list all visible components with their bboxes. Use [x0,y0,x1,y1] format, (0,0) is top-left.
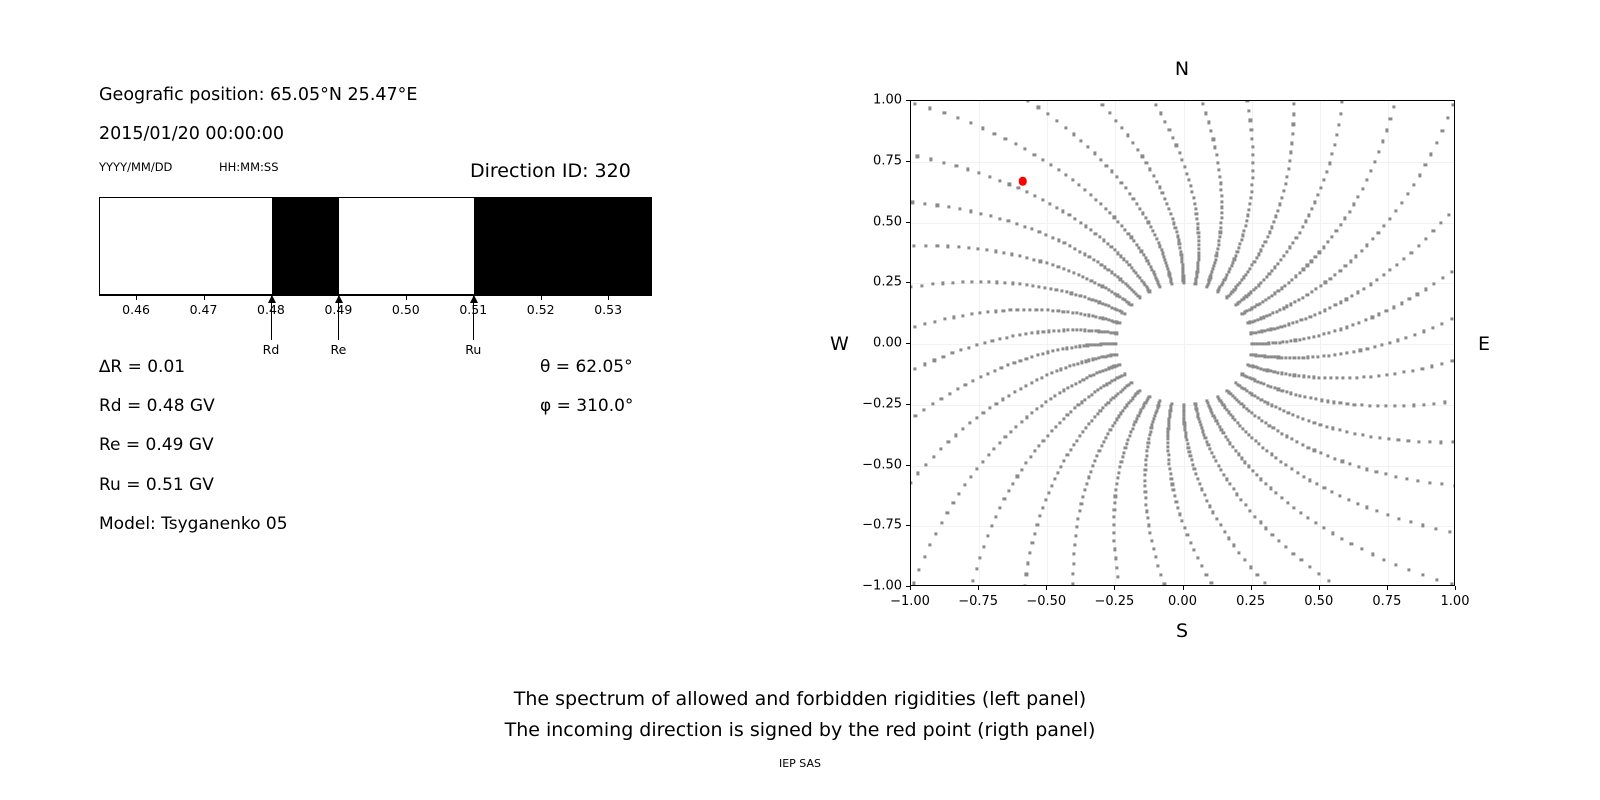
scatter-point [1210,451,1213,454]
scatter-point [993,447,996,450]
scatter-point [1303,337,1306,340]
scatter-point [1084,225,1087,228]
scatter-point [1160,248,1163,251]
scatter-point [1149,225,1152,228]
scatter-point [1038,230,1041,233]
scatter-point [1241,234,1244,237]
scatter-point [1382,140,1385,143]
plot-y-tick-label: −0.75 [852,518,902,533]
scatter-point [1181,269,1184,272]
scatter-point [1113,292,1116,295]
scatter-point [1406,193,1409,196]
scatter-point [1280,325,1283,328]
scatter-point [1150,539,1153,542]
spectrum-x-tick-label: 0.52 [527,302,555,317]
scatter-point [1080,502,1083,505]
scatter-point [1251,162,1254,165]
scatter-point [1371,553,1374,556]
scatter-point [1044,286,1047,289]
scatter-point [1011,282,1014,285]
scatter-point [1349,463,1352,466]
scatter-point [998,441,1001,444]
scatter-point [1031,284,1034,287]
scatter-point [1284,546,1287,549]
scatter-point [1080,361,1083,364]
scatter-point [1451,441,1454,444]
plot-x-tick-label: 0.75 [1372,594,1401,609]
spectrum-marker-re [338,296,339,340]
scatter-point [1318,311,1321,314]
scatter-point [1416,479,1419,482]
scatter-point [1106,242,1109,245]
scatter-point [1355,376,1358,379]
plot-y-tick [906,404,910,405]
scatter-point [1197,254,1200,257]
scatter-point [1105,368,1108,371]
scatter-point [1187,446,1190,449]
scatter-point [1416,293,1419,296]
scatter-point [1149,531,1152,534]
scatter-point [1251,264,1254,267]
scatter-point [1209,448,1212,451]
scatter-point [1077,273,1080,276]
scatter-point [1328,306,1331,309]
scatter-point [1171,483,1174,486]
scatter-point [1026,100,1029,102]
scatter-point [1104,303,1107,306]
scatter-point [1056,119,1059,122]
scatter-point [1281,356,1284,359]
param-theta: θ = 62.05° [540,357,633,377]
scatter-point [1341,377,1344,380]
scatter-point [1290,339,1293,342]
scatter-point [1319,284,1322,287]
scatter-point [1334,273,1337,276]
scatter-point [1006,364,1009,367]
scatter-point [1145,161,1148,164]
scatter-point [917,472,920,475]
scatter-point [1287,323,1290,326]
scatter-point [1135,202,1138,205]
scatter-point [1244,273,1247,276]
scatter-point [1276,262,1279,265]
scatter-point [1090,393,1093,396]
scatter-point [1056,471,1059,474]
scatter-point [978,312,981,315]
scatter-point [1121,126,1124,129]
scatter-point [982,545,985,548]
scatter-point [1344,217,1347,220]
scatter-point [1295,440,1298,443]
scatter-point [1181,158,1184,161]
scatter-point [1158,245,1161,248]
scatter-point [1360,404,1363,407]
scatter-point [1100,263,1103,266]
scatter-point [1078,345,1081,348]
scatter-point [1057,239,1060,242]
scatter-point [1108,381,1111,384]
scatter-point [969,122,972,125]
scatter-point [1385,129,1388,132]
scatter-point [1225,478,1228,481]
scatter-point [1181,263,1184,266]
scatter-point [1166,267,1169,270]
scatter-point [1292,123,1295,126]
datetime-label: 2015/01/20 00:00:00 [99,124,284,144]
scatter-point [1189,454,1192,457]
footer-credit: IEP SAS [0,757,1600,770]
scatter-point [1412,184,1415,187]
scatter-point [1046,434,1049,437]
scatter-point [1300,559,1303,562]
scatter-point [1314,521,1317,524]
scatter-point [1287,412,1290,415]
scatter-point [1116,482,1119,485]
scatter-point [1117,252,1120,255]
scatter-point [1084,360,1087,363]
scatter-point [1049,397,1052,400]
scatter-point [1112,516,1115,519]
scatter-point [1126,134,1129,137]
scatter-point [1012,335,1015,338]
scatter-point [1223,530,1226,533]
scatter-point [1418,174,1421,177]
scatter-point [1057,349,1060,352]
scatter-point [1175,231,1178,234]
scatter-point [1089,375,1092,378]
scatter-point [1196,222,1199,225]
scatter-point [979,375,982,378]
scatter-point [1441,276,1444,279]
scatter-point [1024,332,1027,335]
scatter-point [940,521,943,524]
scatter-point [1334,304,1337,307]
scatter-point [1062,310,1065,313]
scatter-point [1152,547,1155,550]
scatter-point [1292,113,1295,116]
scatter-point [1029,455,1032,458]
scatter-point [1301,226,1304,229]
scatter-point [1251,183,1254,186]
scatter-point [1110,170,1113,173]
scatter-point [1110,306,1113,309]
param-phi: φ = 310.0° [540,396,633,416]
scatter-point [1262,278,1265,281]
scatter-point [1091,298,1094,301]
scatter-point [1440,362,1443,365]
scatter-point [1144,474,1147,477]
scatter-point [1052,329,1055,332]
scatter-point [1197,261,1200,264]
scatter-point [1217,244,1220,247]
scatter-point [1072,583,1075,586]
scatter-point [1210,582,1213,585]
scatter-point [1168,467,1171,470]
scatter-point [1167,270,1170,273]
scatter-point [1268,272,1271,275]
scatter-point [1088,255,1091,258]
scatter-point [956,387,959,390]
scatter-point [1109,211,1112,214]
scatter-point [1424,288,1427,291]
scatter-point [1084,426,1087,429]
scatter-point [1058,421,1061,424]
scatter-point [1065,291,1068,294]
scatter-point [1284,183,1287,186]
scatter-point [1279,203,1282,206]
scatter-point [1273,387,1276,390]
scatter-point [913,325,916,328]
scatter-point [993,369,996,372]
scatter-point [1310,260,1313,263]
scatter-point [1042,439,1045,442]
scatter-point [1075,329,1078,332]
scatter-point [1352,203,1355,206]
scatter-point [1400,302,1403,305]
scatter-point [1085,376,1088,379]
scatter-point [1113,548,1116,551]
scatter-point [1020,468,1023,471]
scatter-point [979,556,982,559]
scatter-point [1083,488,1086,491]
direction-id-label: Direction ID: 320 [470,160,631,182]
scatter-point [1268,424,1271,427]
scatter-point [947,440,950,443]
scatter-point [1101,356,1104,359]
scatter-point [1377,374,1380,377]
scatter-point [932,455,935,458]
scatter-point [1097,330,1100,333]
scatter-point [1101,330,1104,333]
scatter-point [1242,276,1245,279]
scatter-point [1113,502,1116,505]
scatter-point [1213,261,1216,264]
scatter-point [1093,152,1096,155]
scatter-point [1314,201,1317,204]
scatter-point [1099,370,1102,373]
scatter-point [1187,178,1190,181]
scatter-point [1120,255,1123,258]
scatter-point [931,283,934,286]
scatter-point [1291,133,1294,136]
scatter-point [1201,103,1204,106]
scatter-point [1066,386,1069,389]
scatter-point [1292,413,1295,416]
scatter-point [1181,266,1184,269]
scatter-point [959,349,962,352]
scatter-point [969,475,972,478]
scatter-point [1322,333,1325,336]
scatter-point [1207,444,1210,447]
scatter-point [1326,454,1329,457]
scatter-point [1060,368,1063,371]
scatter-point [1431,326,1434,329]
scatter-point [1166,438,1169,441]
scatter-point [1003,281,1006,284]
scatter-point [1394,372,1397,375]
scatter-point [1411,369,1414,372]
scatter-point [1029,551,1032,554]
spectrum-x-tick-label: 0.50 [392,302,420,317]
scatter-point [1244,461,1247,464]
scatter-point [951,352,954,355]
scatter-point [1196,477,1199,480]
scatter-point [1157,564,1160,567]
scatter-point [1450,318,1453,321]
scatter-point [1085,482,1088,485]
scatter-point [1082,495,1085,498]
scatter-point [1196,264,1199,267]
compass-south-label: S [1176,620,1188,642]
scatter-point [1275,215,1278,218]
scatter-point [987,454,990,457]
scatter-point [1254,515,1257,518]
scatter-point [1039,260,1042,263]
scatter-point [1322,527,1325,530]
scatter-point [1138,247,1141,250]
scatter-point [1078,184,1081,187]
scatter-point [1443,401,1446,404]
scatter-point [1344,265,1347,268]
scatter-point [1293,506,1296,509]
scatter-point [1313,313,1316,316]
scatter-point [1052,309,1055,312]
scatter-point [1120,461,1123,464]
scatter-point [1236,493,1239,496]
scatter-point [1307,446,1310,449]
scatter-point [1141,155,1144,158]
scatter-point [1385,309,1388,312]
scatter-point [1055,370,1058,373]
scatter-point [1299,511,1302,514]
scatter-point [1070,384,1073,387]
scatter-point [1025,384,1028,387]
scatter-point [942,282,945,285]
plot-y-tick-label: 1.00 [852,93,902,108]
scatter-point [1318,376,1321,379]
scatter-point [1428,440,1431,443]
scatter-point [1389,117,1392,120]
scatter-point [1130,236,1133,239]
scatter-point [1327,579,1330,582]
plot-x-tick-label: −0.75 [958,594,998,609]
scatter-point [929,107,932,110]
scatter-point [1057,169,1060,172]
scatter-point [1410,251,1413,254]
scatter-point [1108,111,1111,114]
scatter-point [1152,174,1155,177]
plot-y-tick-label: 0.50 [852,214,902,229]
scatter-point [1189,185,1192,188]
scatter-point [1071,329,1074,332]
scatter-point [1102,406,1105,409]
scatter-point [1339,328,1342,331]
scatter-point [1033,450,1036,453]
scatter-point [1330,490,1333,493]
scatter-point [1127,438,1130,441]
scatter-point [1113,216,1116,219]
scatter-point [1057,309,1060,312]
scatter-point [1266,449,1269,452]
scatter-point [1095,198,1098,201]
scatter-point [1151,229,1154,232]
scatter-point [1094,357,1097,360]
scatter-point [1060,465,1063,468]
scatter-point [1243,229,1246,232]
scatter-point [1271,533,1274,536]
scatter-point [1333,353,1336,356]
scatter-point [967,246,970,249]
scatter-point [1162,255,1165,258]
geographic-position-label: Geografic position: 65.05°N 25.47°E [99,85,417,105]
scatter-point [1451,103,1454,106]
scatter-point [1291,278,1294,281]
scatter-point [1302,375,1305,378]
scatter-point [929,158,932,161]
scatter-point [1036,331,1039,334]
scatter-point [1147,524,1150,527]
scatter-point [1378,313,1381,316]
scatter-point [961,427,964,430]
scatter-point [1296,415,1299,418]
compass-west-label: W [830,333,849,355]
scatter-point [1098,449,1101,452]
scatter-point [1345,326,1348,329]
scatter-point [1025,462,1028,465]
scatter-point [1211,268,1214,271]
scatter-point [1200,565,1203,568]
scatter-point [1260,281,1263,284]
scatter-point [1333,457,1336,460]
scatter-point [1270,453,1273,456]
scatter-point [1196,217,1199,220]
scatter-point [943,318,946,321]
scatter-point [1160,573,1163,576]
grid-line-horizontal [911,466,1454,467]
scatter-point [1032,258,1035,261]
scatter-point [1355,255,1358,258]
scatter-point [1197,240,1200,243]
scatter-point [1314,255,1317,258]
scatter-point [1339,352,1342,355]
scatter-point [1107,331,1110,334]
scatter-point [1110,366,1113,369]
scatter-point [1292,102,1295,105]
scatter-point [981,460,984,463]
scatter-point [1231,261,1234,264]
scatter-point [1371,238,1374,241]
scatter-point [1319,452,1322,455]
scatter-point [1186,534,1189,537]
scatter-point [1315,287,1318,290]
scatter-point [1271,269,1274,272]
scatter-point [988,280,991,283]
scatter-point [1161,252,1164,255]
scatter-point [1206,499,1209,502]
scatter-point [1031,228,1034,231]
scatter-point [1030,412,1033,415]
scatter-point [1029,308,1032,311]
scatter-point [993,132,996,135]
scatter-point [1113,307,1116,310]
plot-y-tick-label: 0.75 [852,153,902,168]
scatter-point [1086,344,1089,347]
scatter-point [1385,373,1388,376]
scatter-point [1359,349,1362,352]
compass-north-label: N [1175,58,1189,80]
scatter-point [1110,271,1113,274]
scatter-point [1266,236,1269,239]
